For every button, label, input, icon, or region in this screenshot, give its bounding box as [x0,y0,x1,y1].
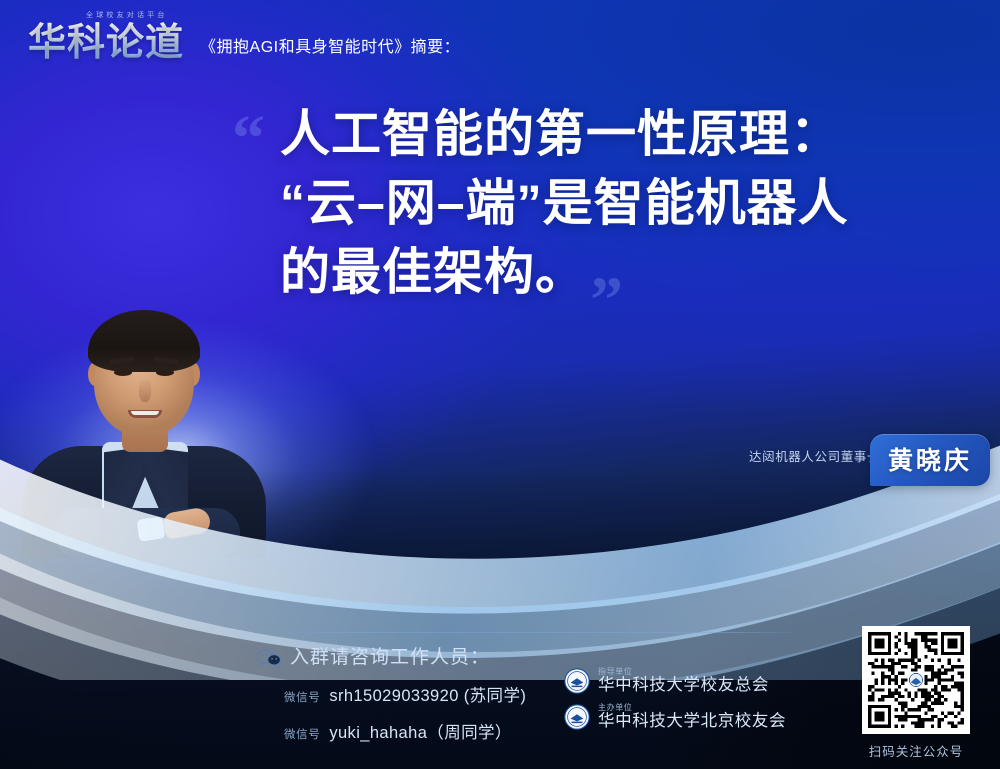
header-subtitle: 《拥抱AGI和具身智能时代》摘要： [200,33,460,66]
organizer-text: 主办单位 华中科技大学北京校友会 [598,704,786,731]
portrait-nose [139,378,151,402]
contact-label-1: 微信号 [284,689,320,705]
footer-title: 入群请咨询工作人员： [290,642,490,669]
organizer-row: 主办单位 华中科技大学北京校友会 [564,704,786,731]
portrait-hair [88,310,200,372]
quote-open-mark: “ [232,106,265,172]
poster-canvas: 全球校友对话平台 华科论道 《拥抱AGI和具身智能时代》摘要： “ 人工智能的第… [0,0,1000,769]
qr-section: 扫码关注公众号 [854,626,978,760]
contact-value-2[interactable]: yuki_hahaha（周同学） [329,719,511,743]
header: 全球校友对话平台 华科论道 《拥抱AGI和具身智能时代》摘要： [28,14,460,66]
contact-label-2: 微信号 [284,726,320,742]
portrait-eye-left [114,369,132,376]
organizer-kicker: 主办单位 [598,704,786,712]
quote-close-mark: ” [590,268,623,334]
contact-row-1: 微信号 srh15029033920 (苏同学) [284,682,526,706]
organizer-list: 指导单位 华中科技大学校友总会 主办单位 华中科技大学北京校友会 [564,668,786,739]
quote-block: “ 人工智能的第一性原理： “云–网–端”是智能机器人 的最佳架构。 ” [232,100,952,307]
organizer-text: 指导单位 华中科技大学校友总会 [598,668,769,695]
qr-code[interactable] [862,626,970,734]
organizer-row: 指导单位 华中科技大学校友总会 [564,668,786,695]
brand-logo: 全球校友对话平台 华科论道 [28,14,184,66]
qr-code-image [868,632,964,728]
qr-caption: 扫码关注公众号 [854,741,978,760]
organizer-name: 华中科技大学北京校友会 [598,713,786,730]
portrait-mouth [128,410,162,418]
portrait-eye-right [156,369,174,376]
speaker-name-badge: 黄晓庆 [870,434,990,486]
footer-divider [288,632,800,633]
wechat-icon [256,648,282,668]
organizer-name: 华中科技大学校友总会 [598,677,769,694]
logo-title: 华科论道 [28,14,184,66]
contact-row-2: 微信号 yuki_hahaha（周同学） [284,719,512,743]
logo-tagline: 全球校友对话平台 [86,10,168,20]
university-seal-icon [564,668,590,694]
contact-value-1[interactable]: srh15029033920 (苏同学) [329,682,526,706]
speaker-name: 黄晓庆 [888,447,972,475]
quote-line-2: “云–网–端”是智能机器人 [280,169,952,238]
university-seal-icon [564,704,590,730]
quote-line-1: 人工智能的第一性原理： [280,100,952,169]
speaker-attribution: 达闼机器人公司董事长兼CEO 黄晓庆 [749,446,922,465]
